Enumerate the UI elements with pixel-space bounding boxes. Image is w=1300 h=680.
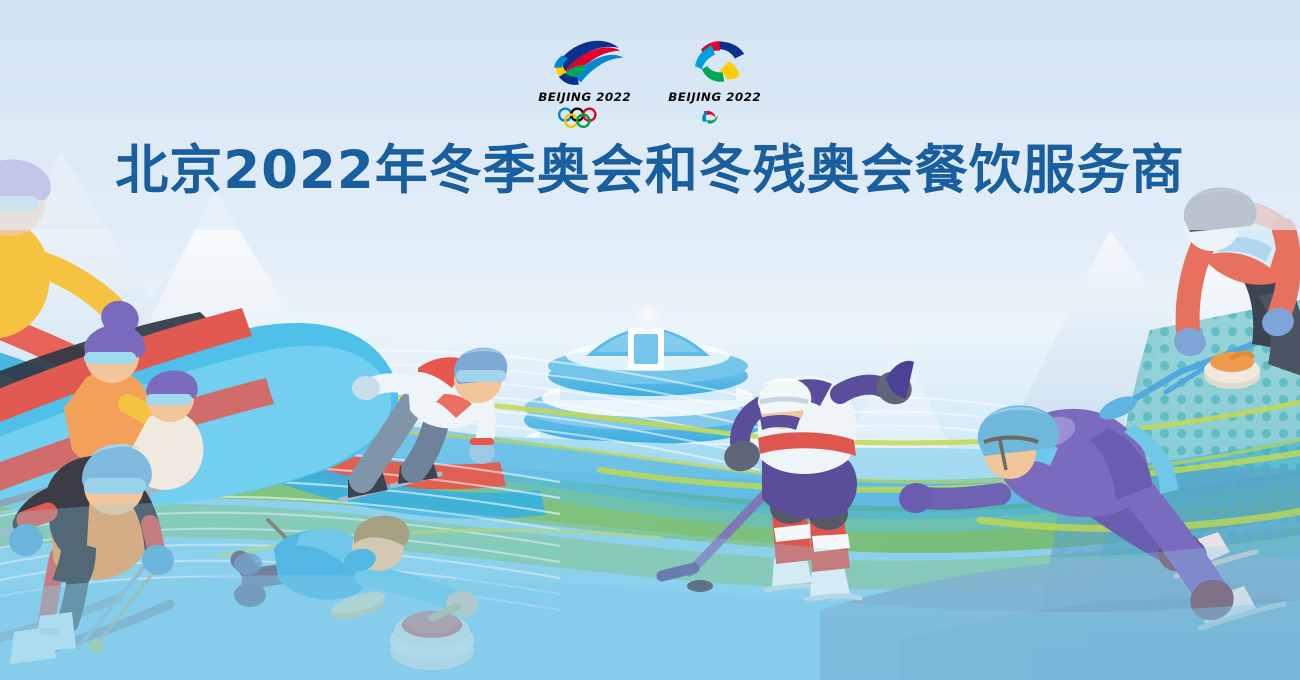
page-title: 北京2022年冬季奥会和冬残奥会餐饮服务商 — [0, 143, 1300, 199]
agitos-icon — [687, 107, 743, 127]
banner-header: BEIJING 2022 — [0, 0, 1300, 199]
beijing-2022-paralympic-logo: BEIJING 2022 — [663, 32, 767, 127]
olympic-emblem-icon — [539, 32, 631, 88]
olympic-banner: BEIJING 2022 — [0, 0, 1300, 680]
olympic-wordmark: BEIJING 2022 — [539, 90, 632, 104]
curling-stone-orange — [1204, 352, 1260, 389]
beijing-2022-olympic-logo: BEIJING 2022 — [533, 32, 637, 129]
paralympic-emblem-icon — [669, 32, 761, 88]
logo-row: BEIJING 2022 — [0, 0, 1300, 129]
paralympic-wordmark: BEIJING 2022 — [669, 90, 762, 104]
olympic-rings-icon — [552, 107, 618, 129]
